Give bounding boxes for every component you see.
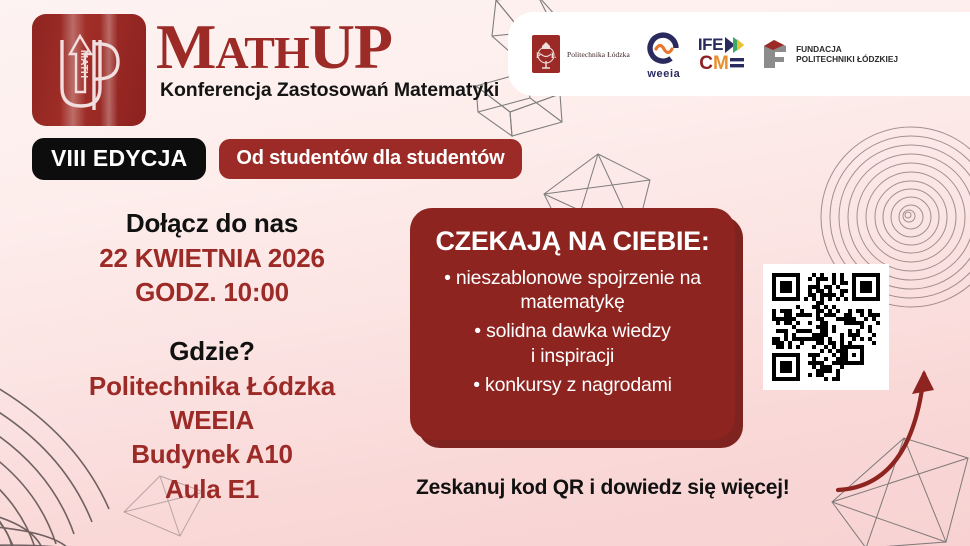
sponsor-label-fundacja: FUNDACJA POLITECHNIKI ŁÓDZKIEJ xyxy=(796,44,898,65)
qr-call-to-action: Zeskanuj kod QR i dowiedz się więcej! xyxy=(416,476,790,500)
highlight-item-line: • solidna dawka wiedzy xyxy=(426,319,719,343)
brand-block: MATH MATHUP Konferencja Zastosowań Matem… xyxy=(32,14,492,126)
ife-arrow-icon xyxy=(724,36,746,54)
highlight-item-line: • konkursy z nagrodami xyxy=(426,373,719,397)
highlight-item: • nieszablonowe spojrzenie na matematykę xyxy=(426,266,719,314)
place-line: Politechnika Łódzka xyxy=(28,369,396,403)
where-heading: Gdzie? xyxy=(28,334,396,369)
sponsor-logo-bar: P Ł Politechnika Łódzka weeia IFE xyxy=(508,12,970,96)
sponsor-label-politechnika: Politechnika Łódzka xyxy=(567,50,630,59)
fundacja-mark-icon xyxy=(760,38,790,70)
when-heading: Dołącz do nas xyxy=(28,206,396,241)
tagline-badge: Od studentów dla studentów xyxy=(219,139,521,179)
highlight-item-line: matematykę xyxy=(426,290,719,314)
qr-curved-arrow-icon xyxy=(826,368,936,498)
sponsor-logo-fundacja-pl: FUNDACJA POLITECHNIKI ŁÓDZKIEJ xyxy=(760,38,898,70)
sponsor-logo-ife-cmf: IFE C M xyxy=(698,36,746,73)
svg-text:Ł: Ł xyxy=(551,51,556,60)
event-date: 22 KWIETNIA 2026 xyxy=(28,241,396,275)
highlight-item: • solidna dawka wiedzy i inspiracji xyxy=(426,319,719,367)
conference-poster: P Ł Politechnika Łódzka weeia IFE xyxy=(0,0,970,546)
place-line: Budynek A10 xyxy=(28,437,396,471)
highlight-item-line: • nieszablonowe spojrzenie na xyxy=(426,266,719,290)
fundacja-line-1: FUNDACJA xyxy=(796,44,898,54)
sponsor-label-weeia: weeia xyxy=(647,68,680,80)
qr-code-icon[interactable] xyxy=(772,273,880,381)
wordmark-ath: ATH xyxy=(215,27,308,78)
fundacja-line-2: POLITECHNIKI ŁÓDZKIEJ xyxy=(796,54,898,64)
conference-subtitle: Konferencja Zastosowań Matematyki xyxy=(160,79,499,102)
politechnika-lodzka-crest-icon: P Ł xyxy=(532,35,560,73)
highlight-card-title: CZEKAJĄ NA CIEBIE: xyxy=(426,226,719,257)
place-line: WEEIA xyxy=(28,403,396,437)
sponsor-logo-weeia: weeia xyxy=(644,29,684,80)
highlight-item-line: i inspiracji xyxy=(426,344,719,368)
place-line: Aula E1 xyxy=(28,472,396,506)
sponsor-label-cmf-m: M xyxy=(713,54,728,73)
event-when: Dołącz do nas 22 KWIETNIA 2026 GODZ. 10:… xyxy=(28,206,396,309)
edition-badge: VIII EDYCJA xyxy=(32,138,206,180)
wordmark-p: P xyxy=(354,11,392,82)
wordmark-m: M xyxy=(156,11,215,82)
highlight-item: • konkursy z nagrodami xyxy=(426,373,719,397)
logo-math-text: MATH xyxy=(78,50,89,78)
cmf-bars-icon xyxy=(729,54,745,72)
wordmark-u: U xyxy=(309,11,354,82)
mathup-wordmark: MATHUP xyxy=(156,16,499,77)
weeia-circle-icon xyxy=(644,29,684,67)
sponsor-logo-politechnika-lodzka: P Ł Politechnika Łódzka xyxy=(532,35,630,73)
event-time: GODZ. 10:00 xyxy=(28,275,396,309)
event-where: Gdzie? Politechnika Łódzka WEEIA Budynek… xyxy=(28,334,396,506)
highlight-card: CZEKAJĄ NA CIEBIE: • nieszablonowe spojr… xyxy=(410,208,735,440)
event-info-block: Dołącz do nas 22 KWIETNIA 2026 GODZ. 10:… xyxy=(28,206,396,506)
sponsor-label-ife: IFE xyxy=(698,36,723,53)
sponsor-label-cmf-c: C xyxy=(699,54,712,73)
mathup-logo-icon: MATH xyxy=(32,14,146,126)
badge-row: VIII EDYCJA Od studentów dla studentów xyxy=(32,138,522,180)
svg-text:P: P xyxy=(536,51,541,60)
